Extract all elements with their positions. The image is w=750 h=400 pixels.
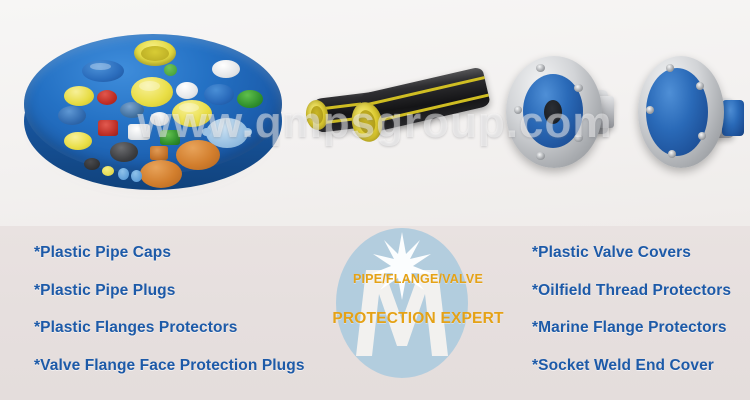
cap-recess-dark-2 <box>179 58 207 75</box>
logo-m-glyph <box>336 228 468 378</box>
cap-grey-disc <box>120 102 144 118</box>
cap-white-ring <box>150 112 169 126</box>
cap-yellow-large-flanged <box>134 40 176 66</box>
feature-item: *Plastic Flanges Protectors <box>34 319 237 337</box>
cap-red <box>97 90 117 105</box>
plug-blue-tiny-a <box>118 168 129 180</box>
cap-blue-disc-right <box>204 84 234 105</box>
protector-orange-large <box>176 140 220 170</box>
plug-blue-tiny-b <box>131 170 142 182</box>
bolt-hole <box>646 106 654 114</box>
company-logo-watermark <box>336 228 468 378</box>
plug-green-lugged <box>160 130 180 145</box>
bolt-hole <box>696 82 704 90</box>
feature-item: *Plastic Pipe Plugs <box>34 282 175 300</box>
logo-starburst-icon <box>371 232 433 300</box>
cap-blue-grey-left <box>58 106 86 125</box>
ring-black-small <box>84 158 100 170</box>
feature-item: *Socket Weld End Cover <box>532 357 714 375</box>
cap-yellow-tiny <box>102 166 114 176</box>
cap-green-flanged-right <box>237 90 263 108</box>
tray-top <box>24 34 282 174</box>
bolt-hole <box>574 84 583 92</box>
plug-orange-small <box>150 146 168 160</box>
bolt-hole <box>536 64 545 72</box>
features-panel: *Plastic Pipe Caps *Plastic Pipe Plugs *… <box>0 226 750 400</box>
protector-orange-mid <box>140 160 182 188</box>
tagline-line-1: PIPE/FLANGE/VALVE <box>336 272 500 286</box>
feature-label: Plastic Valve Covers <box>538 244 691 261</box>
feature-label: Socket Weld End Cover <box>538 357 714 374</box>
cap-blue-disc-large <box>82 60 124 82</box>
feature-label: Valve Flange Face Protection Plugs <box>40 357 304 374</box>
tagline-line-2: PROTECTION EXPERT <box>320 310 516 328</box>
feature-item: *Marine Flange Protectors <box>532 319 727 337</box>
plug-red-lugged <box>98 120 118 136</box>
bolt-hole <box>536 152 545 160</box>
photo-plastic-caps-tray <box>8 18 298 198</box>
bolt-hole <box>574 134 583 142</box>
thread-protector-blue <box>722 100 744 136</box>
product-banner: www.qmpsgroup.com *Plastic Pipe Caps *Pl… <box>0 0 750 400</box>
cap-yellow-lower-center <box>172 100 212 127</box>
cap-white-right <box>212 60 240 78</box>
cap-yellow-lower-left <box>64 132 92 150</box>
flange-bore <box>544 100 562 124</box>
feature-label: Marine Flange Protectors <box>538 319 726 336</box>
plug-darkgrey-lugged <box>110 142 138 162</box>
feature-item: *Valve Flange Face Protection Plugs <box>34 357 305 375</box>
feature-item: *Plastic Valve Covers <box>532 244 691 262</box>
bolt-hole <box>666 64 674 72</box>
feature-label: Oilfield Thread Protectors <box>538 282 731 299</box>
photo-flange-blue-protector <box>492 42 632 188</box>
feature-item: *Plastic Pipe Caps <box>34 244 171 262</box>
photo-flange-blue-cover <box>628 46 750 186</box>
feature-label: Plastic Pipe Caps <box>40 244 171 261</box>
feature-label: Plastic Flanges Protectors <box>40 319 237 336</box>
photo-strip: www.qmpsgroup.com <box>0 0 750 226</box>
bolt-hole <box>698 132 706 140</box>
bolt-hole <box>514 106 522 114</box>
cap-yellow-left-2 <box>64 86 94 106</box>
cap-green-small <box>164 64 177 76</box>
plug-white-lugged <box>128 124 150 140</box>
photo-coated-pipes <box>300 52 495 192</box>
bolt-hole <box>668 150 676 158</box>
feature-item: *Oilfield Thread Protectors <box>532 282 731 300</box>
feature-label: Plastic Pipe Plugs <box>40 282 175 299</box>
plug-white-domed <box>176 82 198 99</box>
